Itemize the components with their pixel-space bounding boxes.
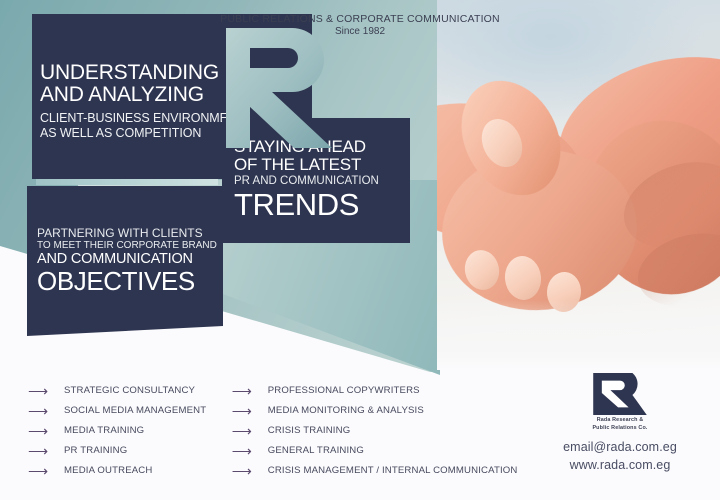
photo-bottom-fade [437, 300, 720, 370]
service-item[interactable]: ⟶PR TRAINING [28, 442, 232, 459]
partnering-title-line1: PARTNERING WITH CLIENTS [37, 226, 223, 240]
service-item-label: PR TRAINING [64, 445, 127, 456]
service-item[interactable]: ⟶MEDIA MONITORING & ANALYSIS [232, 402, 520, 419]
logo-caption-line1: Rada Research & [520, 417, 720, 424]
service-item[interactable]: ⟶STRATEGIC CONSULTANCY [28, 382, 232, 399]
panel-divider-bar [36, 179, 218, 185]
service-item-label: CRISIS TRAINING [268, 425, 351, 436]
service-item[interactable]: ⟶MEDIA OUTREACH [28, 462, 232, 479]
header-tagline-block: PUBLIC RELATIONS & CORPORATE COMMUNICATI… [0, 13, 720, 37]
service-item[interactable]: ⟶CRISIS TRAINING [232, 422, 520, 439]
service-item[interactable]: ⟶MEDIA TRAINING [28, 422, 232, 439]
service-item-label: CRISIS MANAGEMENT / INTERNAL COMMUNICATI… [268, 465, 518, 476]
poster-canvas: PUBLIC RELATIONS & CORPORATE COMMUNICATI… [0, 0, 720, 500]
header-since: Since 1982 [0, 26, 720, 37]
arrow-right-icon: ⟶ [28, 424, 64, 438]
service-item-label: STRATEGIC CONSULTANCY [64, 385, 195, 396]
header-tagline: PUBLIC RELATIONS & CORPORATE COMMUNICATI… [0, 13, 720, 25]
arrow-right-icon: ⟶ [232, 384, 268, 398]
rada-r-monogram-icon [220, 22, 340, 148]
arrow-right-icon: ⟶ [28, 444, 64, 458]
arrow-right-icon: ⟶ [28, 464, 64, 478]
service-item-label: GENERAL TRAINING [268, 445, 364, 456]
arrow-right-icon: ⟶ [232, 464, 268, 478]
service-item[interactable]: ⟶SOCIAL MEDIA MANAGEMENT [28, 402, 232, 419]
service-item-label: SOCIAL MEDIA MANAGEMENT [64, 405, 206, 416]
services-lists: ⟶STRATEGIC CONSULTANCY⟶SOCIAL MEDIA MANA… [0, 382, 520, 479]
service-item[interactable]: ⟶PROFESSIONAL COPYWRITERS [232, 382, 520, 399]
contact-website[interactable]: www.rada.com.eg [520, 456, 720, 474]
services-column-right: ⟶PROFESSIONAL COPYWRITERS⟶MEDIA MONITORI… [232, 382, 520, 479]
arrow-right-icon: ⟶ [232, 404, 268, 418]
arrow-right-icon: ⟶ [232, 424, 268, 438]
panel-partnering: PARTNERING WITH CLIENTS TO MEET THEIR CO… [27, 186, 223, 336]
service-item[interactable]: ⟶CRISIS MANAGEMENT / INTERNAL COMMUNICAT… [232, 462, 520, 479]
service-item-label: MEDIA TRAINING [64, 425, 144, 436]
partnering-big-word: OBJECTIVES [37, 268, 223, 294]
service-item-label: MEDIA MONITORING & ANALYSIS [268, 405, 424, 416]
arrow-right-icon: ⟶ [232, 444, 268, 458]
arrow-right-icon: ⟶ [28, 404, 64, 418]
contact-email[interactable]: email@rada.com.eg [520, 438, 720, 456]
logo-caption-line2: Public Relations Co. [520, 425, 720, 432]
services-column-left: ⟶STRATEGIC CONSULTANCY⟶SOCIAL MEDIA MANA… [28, 382, 232, 479]
trends-title-line2: OF THE LATEST [234, 156, 410, 174]
rada-logo-icon[interactable] [591, 372, 649, 416]
service-item-label: PROFESSIONAL COPYWRITERS [268, 385, 420, 396]
service-item[interactable]: ⟶GENERAL TRAINING [232, 442, 520, 459]
footer-brand-block: Rada Research & Public Relations Co. ema… [520, 372, 720, 474]
arrow-right-icon: ⟶ [28, 384, 64, 398]
service-item-label: MEDIA OUTREACH [64, 465, 152, 476]
trends-big-word: TRENDS [234, 189, 410, 220]
handshake-photo [437, 0, 720, 370]
